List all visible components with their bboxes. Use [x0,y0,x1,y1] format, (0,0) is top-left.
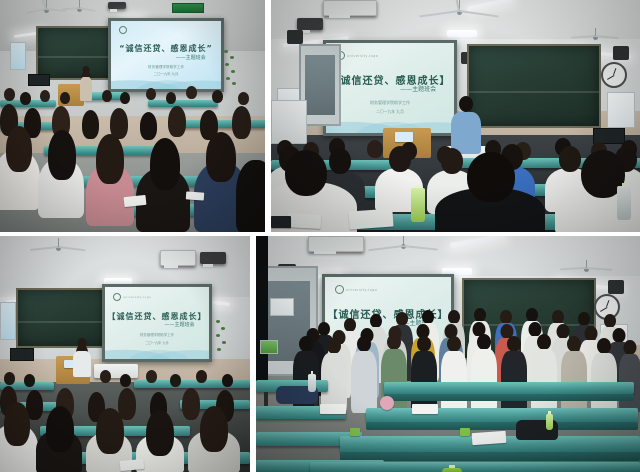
student-head [46,406,74,452]
notebook [287,213,322,229]
paper-sheet [320,404,346,414]
slide-org: 财务管理学院助学工作 [105,332,209,337]
student-head [559,146,581,172]
notebook [348,208,393,229]
student-standing [618,340,640,412]
university-logo-icon: university-logo [335,285,377,294]
ceiling-fan-icon [62,0,96,18]
water-bottle [308,374,316,392]
classroom-desk [148,100,218,107]
student-head [182,388,200,420]
paper-sheet [472,431,507,445]
wall-speaker [287,30,303,44]
classroom-desk [176,120,265,128]
student-standing [350,336,378,412]
student-head [102,90,112,102]
student-head [4,402,30,446]
speaker-person [78,66,94,102]
student-head [196,370,207,383]
classroom-desk [310,462,640,472]
student-head [212,90,223,103]
blackboard [16,288,114,348]
classroom-bench [366,422,638,430]
slide-date: 二〇一九年 九月 [111,71,221,76]
slide-org: 财务管理学院助学工作 [111,65,221,70]
wall-poster [0,302,16,340]
student-head [238,92,249,105]
student-head [4,88,15,101]
projector-icon [108,2,126,9]
student-head [40,90,50,102]
student-head [329,148,351,174]
cabinet [271,100,307,144]
wall-poster [10,42,26,70]
projection-screen: university-logo 【诚信还贷、感恩成长】 ——主题班会 财务管理学… [323,40,457,136]
wall-speaker [613,46,629,60]
plant-decor [222,50,238,86]
student-head [82,110,99,139]
projector-icon [308,236,364,252]
student-head [96,134,124,184]
photo-panel-bottom-left: university-logo 【诚信还贷、感恩成长】 ——主题班会 财务管理学… [0,236,250,472]
slide-logo-text: university-logo [346,288,377,292]
slide-logo-text: university-logo [347,54,378,58]
wall-display [10,348,34,361]
student-head [168,106,186,137]
blackboard [467,44,601,128]
wall-clock-icon [601,62,627,88]
wall-notice [270,298,294,316]
ceiling-fan-icon [560,260,612,278]
slide-org: 财务管理学院助学工作 [326,100,454,106]
student-head [200,406,228,452]
notebook [186,191,205,200]
green-bottle [442,468,462,472]
student-head [120,374,131,387]
wall-poster [607,92,635,128]
student-head [96,408,124,454]
ceiling-fan-icon [30,238,86,258]
projection-screen: university-logo “诚信还贷、感恩成长” ——主题班会 财务管理学… [108,18,224,92]
photo-panel-bottom-right: university-logo 【诚信还贷、感恩成长】 ——主题班会 财务管理学… [256,236,640,472]
student-head [206,132,236,182]
classroom-desk [384,382,634,394]
student-head [146,410,174,456]
green-item [460,428,470,436]
pink-item [380,396,394,410]
slide-logo-text: university-logo [123,295,151,299]
student-standing [320,338,348,412]
notebook [120,459,145,471]
projection-screen: university-logo 【诚信还贷、感恩成长】 ——主题班会 财务管理学… [102,284,212,362]
student-head [186,86,197,99]
slide-date: 二〇一九年 九月 [105,340,209,345]
water-bottle [617,186,631,220]
wall-speaker [608,280,624,294]
paper-sheet [412,404,438,414]
photo-panel-top-right: university-logo 【诚信还贷、感恩成长】 ——主题班会 财务管理学… [271,0,640,232]
student-head [100,370,111,383]
foreground-student-head [467,152,515,202]
ceiling-light [447,30,477,37]
ceiling-fan-icon [419,0,499,26]
green-bottle [546,414,553,430]
classroom-bench [340,452,640,461]
student-head [120,92,130,104]
ceiling-fan-icon [26,0,66,20]
student-head [146,370,157,383]
classroom-desk [366,408,638,422]
foreground-student-head [285,150,327,196]
student-head [222,374,233,387]
student-head [146,88,156,100]
student-head [140,112,157,140]
slide-date: 二〇一九年 九月 [326,109,454,115]
student-head [166,92,176,104]
student-head [48,130,76,180]
speaker-person [72,338,92,374]
student-head [60,92,70,104]
projector-icon [323,0,377,16]
student-head [150,138,180,190]
student-torso [236,160,265,232]
presenter-person [449,96,483,152]
green-bottle [411,188,425,222]
projector-icon [160,250,196,266]
photo-collage: university-logo “诚信还贷、感恩成长” ——主题班会 财务管理学… [0,0,640,472]
phone [271,216,291,228]
podium-sign [395,132,413,142]
university-logo-icon: university-logo [336,51,378,60]
slide-subtitle: ——主题班会 [176,54,206,61]
door-frame-shadow [256,236,268,386]
student-head [20,92,31,105]
student-head [441,148,463,174]
student-head [6,126,32,172]
slide-subtitle: ——主题班会 [400,84,436,93]
ceiling-fan-icon [368,236,438,258]
plant-decor [214,320,228,356]
photo-panel-top-left: university-logo “诚信还贷、感恩成长” ——主题班会 财务管理学… [0,0,265,232]
student-head [170,374,181,387]
university-logo-icon: university-logo [119,26,157,34]
wall-display [28,74,50,86]
student-head [4,372,15,385]
exit-sign [172,3,204,13]
projector-icon [297,18,323,30]
wall-notice [260,340,278,354]
student-head [232,106,251,139]
green-item [350,428,360,436]
projector-icon [200,252,226,264]
student-head [389,146,411,172]
classroom-bench [384,394,634,401]
student-head [24,374,35,387]
student-head [367,140,383,158]
university-logo-icon: university-logo [113,293,151,301]
slide-subtitle: ——主题班会 [164,321,194,328]
